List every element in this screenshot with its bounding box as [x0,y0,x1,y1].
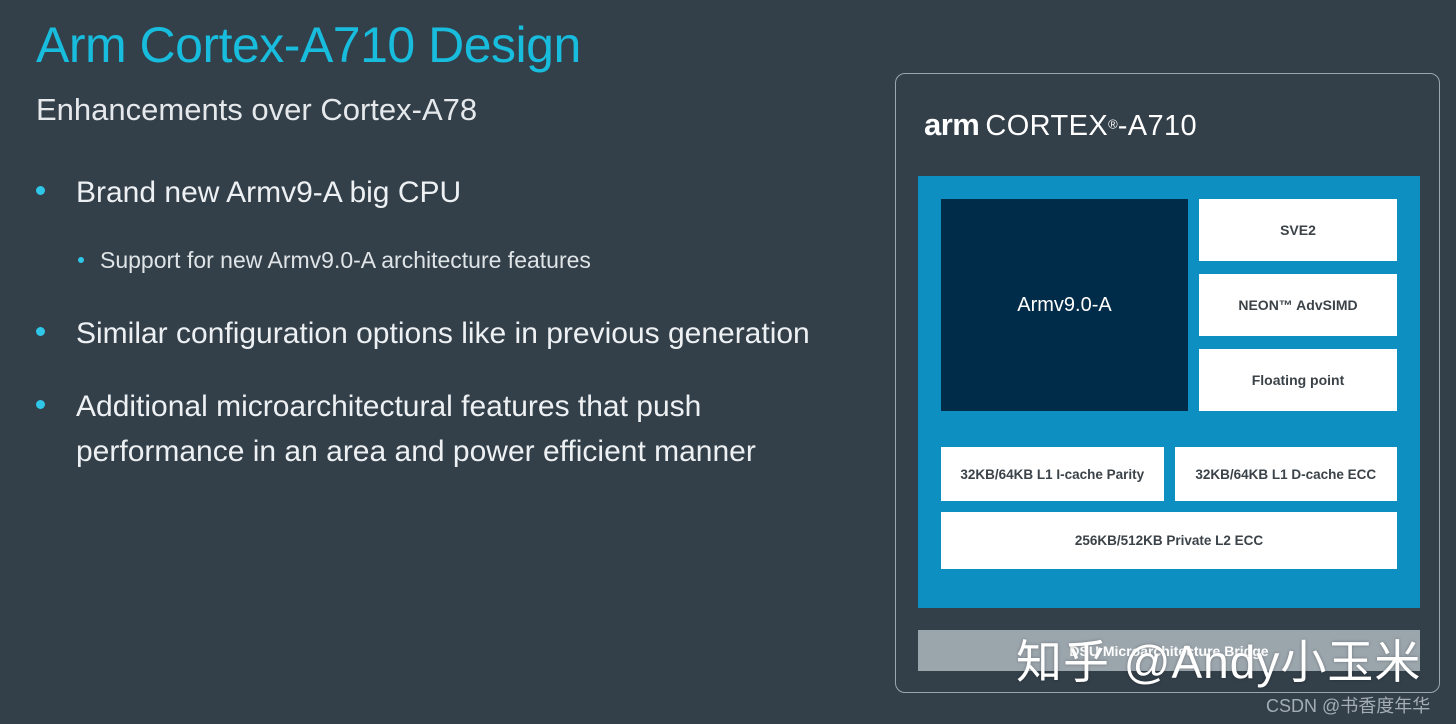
arm-cortex-logo: armCORTEX®-A710 [924,107,1197,143]
extension-box-sve2: SVE2 [1199,199,1397,261]
extension-box-floating-point: Floating point [1199,349,1397,411]
l1-dcache-box: 32KB/64KB L1 D-cache ECC [1175,447,1398,501]
bullet-list: Brand new Armv9-A big CPU Support for ne… [36,170,856,502]
extensions-column: SVE2 NEON™ AdvSIMD Floating point [1199,199,1397,411]
list-item-label: Additional microarchitectural features t… [76,384,856,474]
bullet-dot-icon [36,400,45,409]
slide-text-column: Arm Cortex-A710 Design Enhancements over… [0,0,880,724]
cortex-wordmark: CORTEX [985,110,1108,142]
cpu-core-block: Armv9.0-A SVE2 NEON™ AdvSIMD Floating po… [918,176,1420,608]
page-subtitle: Enhancements over Cortex-A78 [36,92,477,128]
list-item: Support for new Armv9.0-A architecture f… [78,243,856,277]
bullet-dot-icon [78,257,84,263]
zhihu-watermark: 知乎 @Andy小玉米 [1016,626,1421,692]
cortex-model-suffix: -A710 [1118,110,1197,142]
bullet-dot-icon [36,327,45,336]
l2-cache-row: 256KB/512KB Private L2 ECC [941,512,1397,569]
architecture-block: Armv9.0-A [941,199,1188,411]
extension-box-neon-advsimd: NEON™ AdvSIMD [1199,274,1397,336]
l1-icache-box: 32KB/64KB L1 I-cache Parity [941,447,1164,501]
list-item: Additional microarchitectural features t… [36,384,856,474]
list-item: Similar configuration options like in pr… [36,311,856,356]
list-item: Brand new Armv9-A big CPU [36,170,856,215]
list-item-label: Similar configuration options like in pr… [76,311,810,356]
architecture-and-extensions-row: Armv9.0-A SVE2 NEON™ AdvSIMD Floating po… [941,199,1397,411]
registered-trademark-icon: ® [1108,117,1118,132]
csdn-watermark: CSDN @书香度年华 [1266,692,1430,718]
page-title: Arm Cortex-A710 Design [36,16,581,74]
l1-cache-row: 32KB/64KB L1 I-cache Parity 32KB/64KB L1… [941,447,1397,501]
list-item-label: Support for new Armv9.0-A architecture f… [100,243,591,277]
l2-cache-box: 256KB/512KB Private L2 ECC [941,512,1397,569]
cortex-a710-diagram-panel: armCORTEX®-A710 Armv9.0-A SVE2 NEON™ Adv… [895,73,1440,693]
list-item-label: Brand new Armv9-A big CPU [76,170,461,215]
bullet-dot-icon [36,186,45,195]
arm-wordmark: arm [924,107,979,142]
